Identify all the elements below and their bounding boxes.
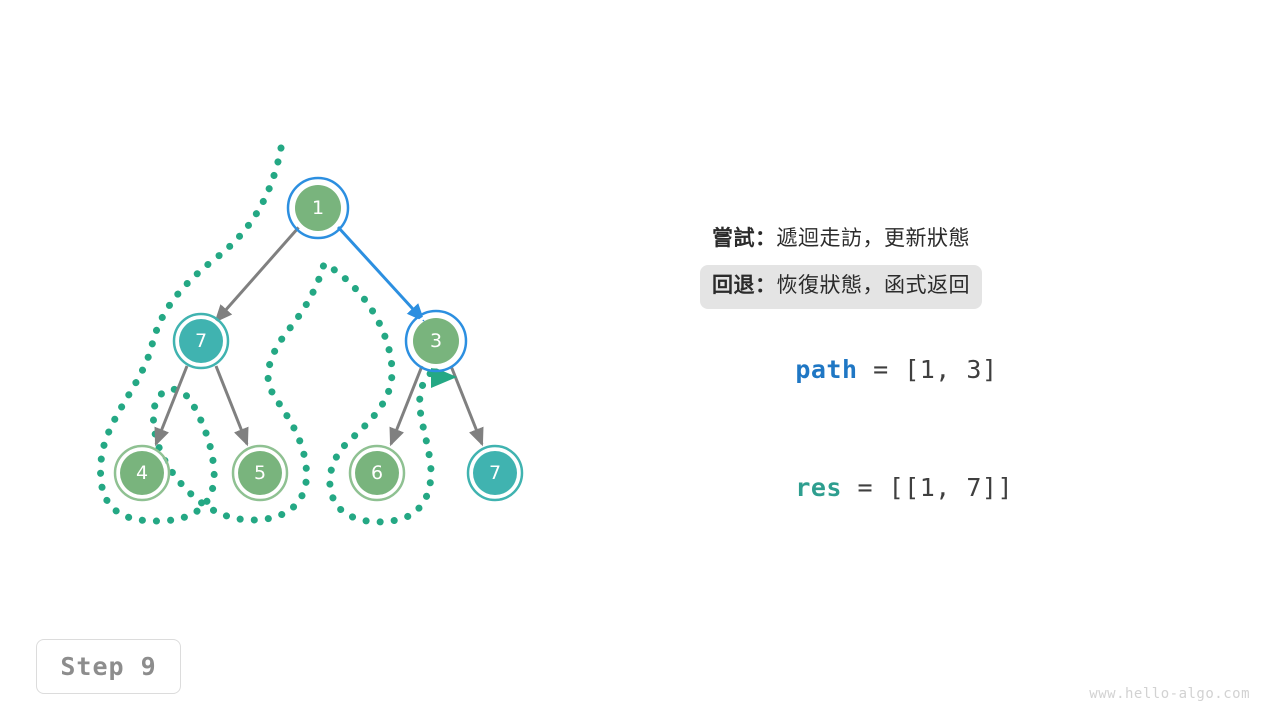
binary-tree-diagram: 1 7 3 4 <box>0 0 640 620</box>
tree-node-3-label: 3 <box>430 330 442 352</box>
tree-node-6[interactable]: 6 <box>350 446 404 500</box>
edge-7l-5 <box>216 366 247 444</box>
phase-backtrack-key: 回退： <box>712 274 777 297</box>
tree-node-4[interactable]: 4 <box>115 446 169 500</box>
step-badge-label: Step 9 <box>60 652 156 681</box>
tree-node-5[interactable]: 5 <box>233 446 287 500</box>
tree-node-1-label: 1 <box>312 197 324 219</box>
tree-node-7-left-label: 7 <box>195 330 207 352</box>
variable-path-row: path = [1, 3] <box>702 326 998 413</box>
edge-7l-4 <box>156 366 187 444</box>
variable-path-equals: = <box>858 355 905 384</box>
info-panel: 嘗試：遞迴走訪，更新狀態 回退：恢復狀態，函式返回 path = [1, 3] … <box>700 218 1180 313</box>
tree-node-4-label: 4 <box>136 462 148 484</box>
tree-node-3[interactable]: 3 <box>406 311 466 371</box>
variable-res-equals: = <box>842 473 889 502</box>
phase-try-key: 嘗試： <box>712 227 777 250</box>
variable-path-name: path <box>795 355 857 384</box>
tree-nodes: 1 7 3 4 <box>115 178 522 500</box>
edge-3-7r <box>451 366 482 444</box>
watermark: www.hello-algo.com <box>1089 686 1250 702</box>
watermark-label: www.hello-algo.com <box>1089 686 1250 702</box>
phase-line-backtrack: 回退：恢復狀態，函式返回 <box>700 265 982 308</box>
variable-res-row: res = [[1, 7]] <box>702 444 1013 531</box>
phase-try-text: 遞迴走訪，更新狀態 <box>777 227 971 250</box>
tree-node-7-right[interactable]: 7 <box>468 446 522 500</box>
edge-1-3 <box>338 227 423 320</box>
tree-node-7-left[interactable]: 7 <box>174 314 228 368</box>
edge-3-6 <box>391 366 422 444</box>
edge-1-7l <box>216 227 299 321</box>
tree-node-1[interactable]: 1 <box>288 178 348 238</box>
variable-res-value: [[1, 7]] <box>889 473 1013 502</box>
tree-node-6-label: 6 <box>371 462 383 484</box>
tree-node-5-label: 5 <box>254 462 266 484</box>
tree-node-7-right-label: 7 <box>489 462 501 484</box>
step-badge: Step 9 <box>36 639 181 694</box>
phase-line-try: 嘗試：遞迴走訪，更新狀態 <box>700 218 982 261</box>
variable-res-name: res <box>795 473 842 502</box>
variable-path-value: [1, 3] <box>904 355 997 384</box>
phase-backtrack-text: 恢復狀態，函式返回 <box>777 274 971 297</box>
diagram-canvas: 1 7 3 4 <box>0 0 1280 720</box>
